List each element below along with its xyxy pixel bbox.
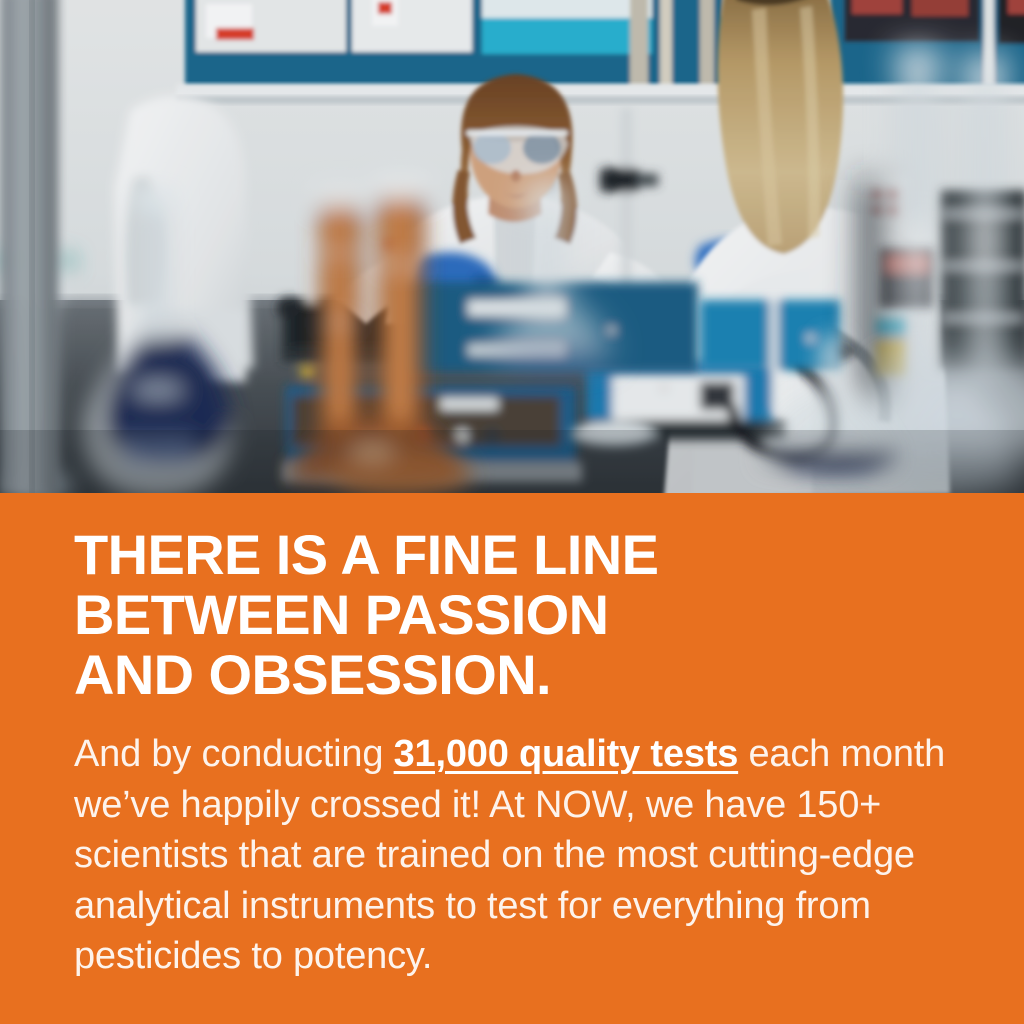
laboratory-photo-illustration: 500 [0, 0, 1024, 493]
promo-canvas: 500 [0, 0, 1024, 1024]
page-title: THERE IS A FINE LINE BETWEEN PASSION AND… [74, 525, 974, 705]
body-lead: And by conducting [74, 733, 394, 775]
laboratory-photo: 500 [0, 0, 1024, 493]
photo-bottom-vignette [0, 430, 1024, 493]
stat-emphasis: 31,000 quality tests [394, 733, 739, 775]
photo-color-grade [0, 0, 1024, 493]
orange-message-panel: THERE IS A FINE LINE BETWEEN PASSION AND… [0, 493, 1024, 1024]
body-copy: And by conducting 31,000 quality tests e… [74, 729, 954, 982]
